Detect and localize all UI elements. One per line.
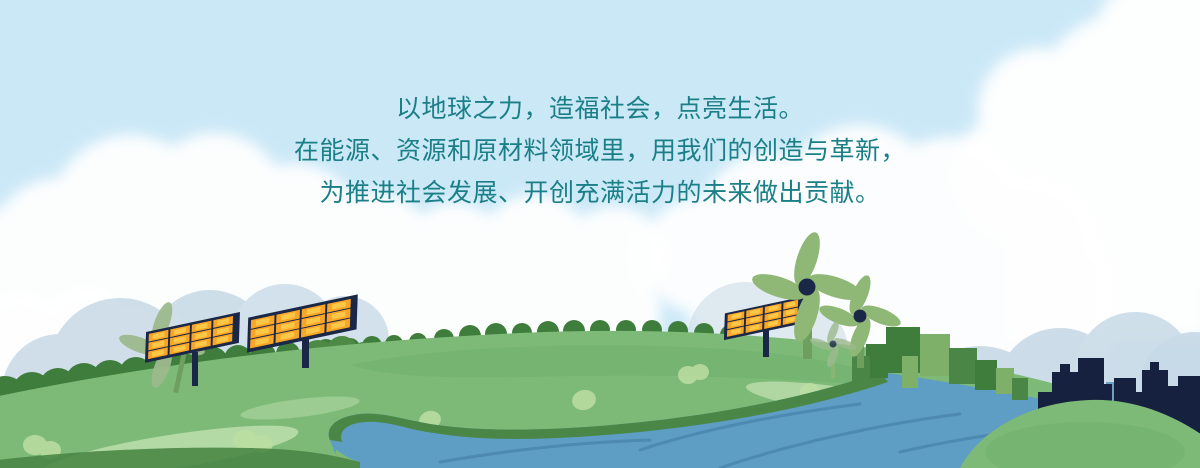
illustration-scene xyxy=(0,0,1200,468)
eco-banner: 以地球之力，造福社会，点亮生活。 在能源、资源和原材料领域里，用我们的创造与革新… xyxy=(0,0,1200,468)
